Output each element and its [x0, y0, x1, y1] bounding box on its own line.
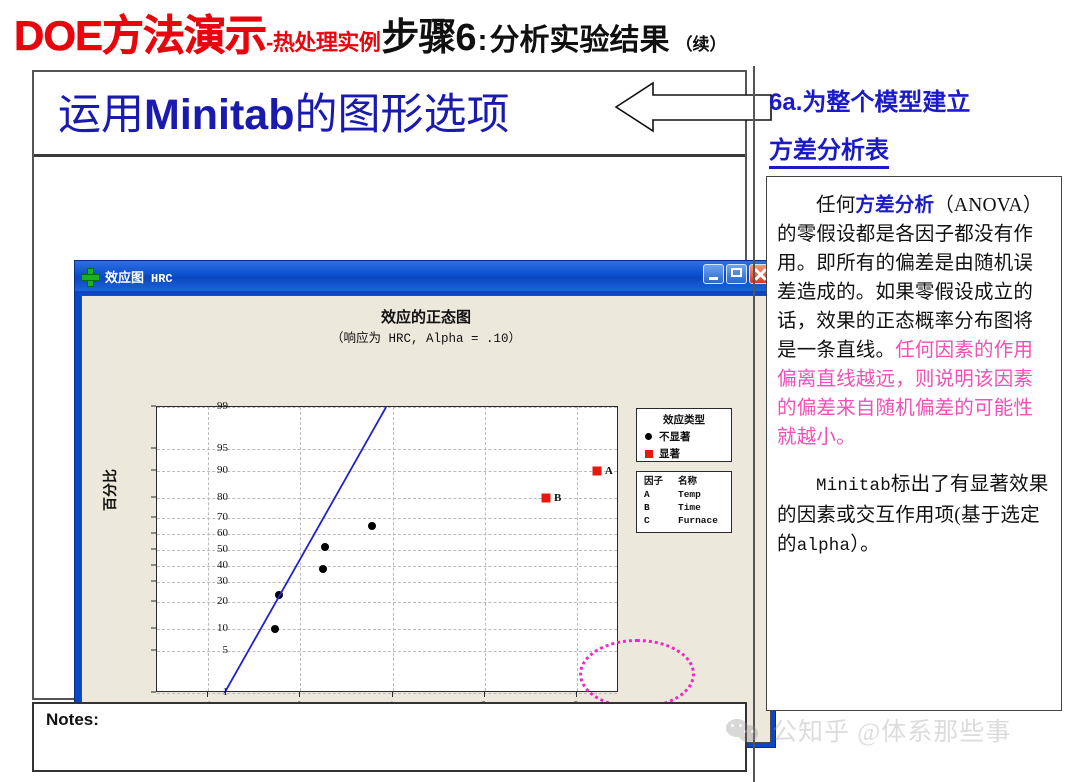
- x-axis-tick-mark: [576, 692, 577, 697]
- black-circle-icon: [645, 433, 652, 440]
- legend-factors-header-code: 因子: [644, 475, 678, 488]
- slide-subtitle: 运用Minitab的图形选项: [58, 80, 509, 142]
- y-axis-tick-mark: [151, 581, 156, 582]
- chart-y-axis-label: 百分比: [100, 469, 120, 511]
- window-title-cjk: 效应图: [105, 270, 144, 285]
- y-axis-tick-mark: [151, 692, 156, 693]
- header-title-line: DOE方法演示 - 热处理实例 步骤6 : 分析实验结果 （续）: [14, 2, 727, 63]
- y-axis-tick-label: 99: [198, 400, 228, 412]
- y-axis-tick-label: 1: [198, 686, 228, 698]
- column-divider: [753, 66, 755, 782]
- header-title-dash: -: [266, 30, 273, 56]
- para1-t1: 任何: [816, 195, 855, 216]
- right-heading-line1: 6a.为整个模型建立: [769, 82, 970, 117]
- explanation-paragraph-2: Minitab标出了有显著效果的因素或交互作用项(基于选定的alpha）。: [777, 470, 1051, 561]
- chart-title: 效应的正态图: [82, 306, 770, 327]
- y-axis-tick-label: 90: [198, 464, 228, 476]
- y-axis-tick-mark: [151, 627, 156, 628]
- para2-alpha: alpha: [797, 536, 851, 556]
- window-title-response: HRC: [151, 272, 173, 286]
- watermark-text: 公知乎 @体系那些事: [772, 712, 1011, 748]
- y-axis-tick-mark: [151, 600, 156, 601]
- legend-factor-name: Temp: [678, 488, 701, 501]
- x-axis-tick-mark: [392, 692, 393, 697]
- slide-header: DOE方法演示 - 热处理实例 步骤6 : 分析实验结果 （续）: [0, 0, 1080, 66]
- header-title-red-small: 热处理实例: [273, 25, 381, 57]
- y-axis-tick-mark: [151, 497, 156, 498]
- red-square-icon: [645, 450, 653, 458]
- y-axis-tick-label: 40: [198, 559, 228, 571]
- slide-subtitle-part2: 的图形选项: [294, 92, 509, 139]
- header-colon: :: [478, 24, 488, 58]
- legend-entry-label: 显著: [659, 446, 680, 461]
- explanation-paragraph-1: 任何方差分析（ANOVA）的零假设都是各因子都没有作用。即所有的偏差是由随机误差…: [777, 191, 1051, 452]
- legend-factor-code: B: [644, 501, 678, 514]
- green-plus-icon: [81, 268, 98, 285]
- legend-entry-label: 不显著: [659, 429, 691, 444]
- legend-factor-row: A Temp: [637, 488, 731, 501]
- y-axis-tick-label: 10: [198, 622, 228, 634]
- window-titlebar[interactable]: 效应图HRC: [75, 261, 775, 291]
- slide-body-panel: 运用Minitab的图形选项 效应图HRC 效应的正态图 （响应为 HRC, A…: [32, 70, 747, 700]
- y-axis-tick-mark: [151, 516, 156, 517]
- header-step-label: 步骤6: [381, 6, 475, 61]
- legend-factor-name: Time: [678, 501, 701, 514]
- legend-factor-row: C Furnace: [637, 514, 731, 527]
- legend-factor-row: B Time: [637, 501, 731, 514]
- y-axis-tick-label: 30: [198, 575, 228, 587]
- para1-t3: （ANOVA）的零假设都是各因子都没有作用。即所有的偏差是由随机误差造成的。如果…: [777, 195, 1043, 361]
- slide-subtitle-part1: 运用: [58, 92, 144, 139]
- para2-t4: ）。: [850, 534, 880, 555]
- legend-entry-not-significant: 不显著: [637, 429, 731, 444]
- y-axis-tick-label: 50: [198, 543, 228, 555]
- header-title-red: DOE方法演示: [14, 2, 266, 63]
- y-axis-tick-label: 80: [198, 491, 228, 503]
- x-axis-tick-mark: [299, 692, 300, 697]
- legend-factor-code: C: [644, 514, 678, 527]
- slide-subtitle-latin: Minitab: [144, 91, 294, 139]
- y-axis-tick-mark: [151, 470, 156, 471]
- minimize-icon[interactable]: [703, 264, 724, 284]
- y-axis-tick-mark: [151, 549, 156, 550]
- para1-highlight-anova: 方差分析: [855, 195, 934, 216]
- legend-effect-type-title: 效应类型: [637, 412, 731, 427]
- y-axis-tick-mark: [151, 564, 156, 565]
- y-axis-tick-mark: [151, 406, 156, 407]
- legend-effect-type: 效应类型 不显著 显著: [636, 408, 732, 462]
- maximize-icon[interactable]: [726, 264, 747, 284]
- notes-label: Notes:: [46, 710, 99, 730]
- legend-factor-code: A: [644, 488, 678, 501]
- x-axis-tick-mark: [484, 692, 485, 697]
- y-axis-tick-label: 5: [198, 644, 228, 656]
- para2-minitab: Minitab: [816, 476, 891, 496]
- legend-factors: 因子 名称 A Temp B Time C Furnace: [636, 471, 732, 533]
- legend-factors-header: 因子 名称: [637, 475, 731, 488]
- header-step-desc: 分析实验结果: [490, 15, 670, 59]
- y-axis-tick-label: 70: [198, 511, 228, 523]
- explanation-box: 任何方差分析（ANOVA）的零假设都是各因子都没有作用。即所有的偏差是由随机误差…: [766, 176, 1062, 711]
- annotation-ellipse: [579, 639, 695, 709]
- y-axis-tick-label: 20: [198, 595, 228, 607]
- y-axis-tick-label: 95: [198, 442, 228, 454]
- chart-canvas: 效应的正态图 （响应为 HRC, Alpha = .10） 百分比 效应 BA …: [81, 295, 771, 743]
- legend-factors-header-name: 名称: [678, 475, 697, 488]
- window-controls[interactable]: [703, 264, 772, 284]
- chart-subtitle: （响应为 HRC, Alpha = .10）: [82, 327, 770, 346]
- left-arrow-icon: [613, 80, 773, 135]
- y-axis-tick-mark: [151, 533, 156, 534]
- legend-factor-name: Furnace: [678, 514, 718, 527]
- notes-box[interactable]: Notes:: [32, 702, 747, 772]
- y-axis-tick-mark: [151, 650, 156, 651]
- x-axis-tick-mark: [207, 692, 208, 697]
- minitab-effects-plot-window[interactable]: 效应图HRC 效应的正态图 （响应为 HRC, Alpha = .10） 百分比…: [74, 260, 776, 748]
- right-heading-line2: 方差分析表: [769, 130, 889, 169]
- window-title: 效应图HRC: [105, 267, 173, 286]
- legend-entry-significant: 显著: [637, 446, 731, 461]
- y-axis-tick-label: 60: [198, 527, 228, 539]
- y-axis-tick-mark: [151, 447, 156, 448]
- header-continued: （续）: [676, 30, 727, 55]
